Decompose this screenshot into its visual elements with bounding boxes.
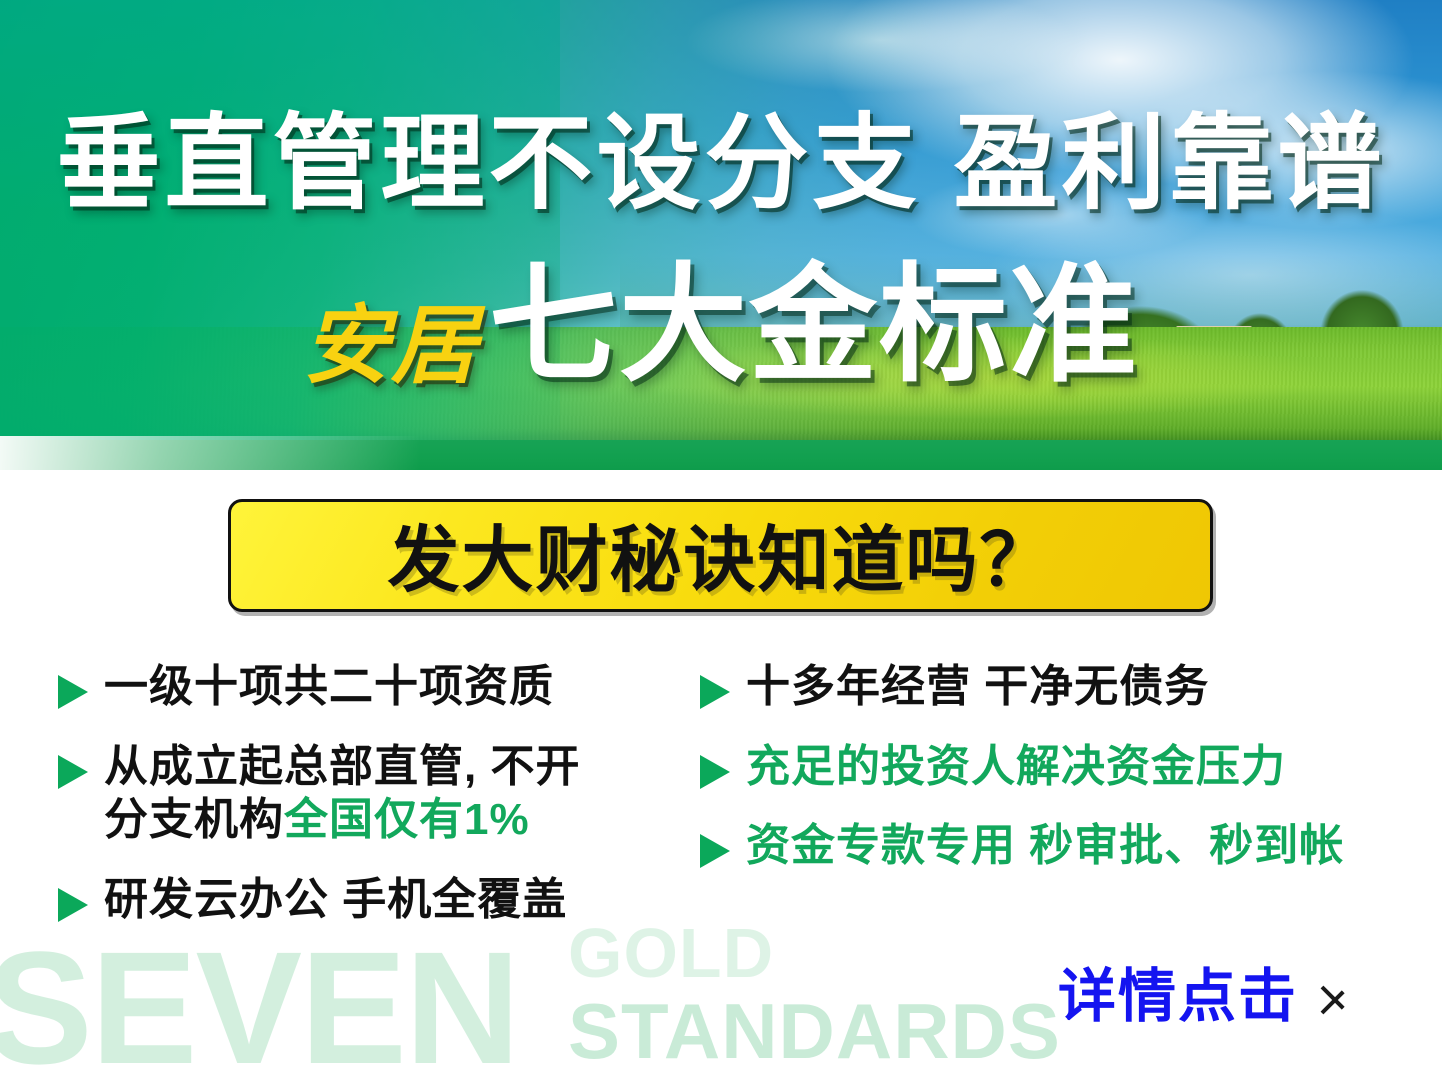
feature-text: 十多年经营 干净无债务 xyxy=(746,660,1209,714)
feature-line: 充足的投资人解决资金压力 xyxy=(746,742,1286,791)
feature-item: 充足的投资人解决资金压力 xyxy=(700,740,1400,794)
feature-line: 十多年经营 干净无债务 xyxy=(746,662,1209,711)
triangle-bullet-icon xyxy=(700,755,730,789)
feature-line: 资金专款专用 秒审批、秒到帐 xyxy=(746,821,1344,870)
feature-text: 资金专款专用 秒审批、秒到帐 xyxy=(746,819,1344,873)
headline-cta-bar[interactable]: 发大财秘诀知道吗？ xyxy=(228,499,1213,612)
detail-link-label: 详情点击 xyxy=(1058,968,1298,1026)
triangle-bullet-icon xyxy=(58,675,88,709)
triangle-bullet-icon xyxy=(700,834,730,868)
feature-text: 研发云办公 手机全覆盖 xyxy=(104,873,567,927)
feature-item: 十多年经营 干净无债务 xyxy=(700,660,1400,714)
hero-headline-secondary: 安居七大金标准 xyxy=(0,262,1442,390)
triangle-bullet-icon xyxy=(58,755,88,789)
feature-text: 一级十项共二十项资质 xyxy=(104,660,554,714)
promo-banner-page: 垂直管理不设分支 盈利靠谱 安居七大金标准 发大财秘诀知道吗？ SEVEN GO… xyxy=(0,0,1442,1066)
feature-line: 一级十项共二十项资质 xyxy=(104,662,554,711)
headline-cta-bar-label: 发大财秘诀知道吗？ xyxy=(387,501,1053,606)
brand-slogan-seven-gold-standards: 七大金标准 xyxy=(489,262,1139,390)
feature-item: 从成立起总部直管, 不开 分支机构全国仅有1% xyxy=(58,740,698,847)
brand-name-anju: 安居 xyxy=(303,303,479,389)
feature-column-left: 一级十项共二十项资质 从成立起总部直管, 不开 分支机构全国仅有1% 研发云办公… xyxy=(58,660,698,953)
hero-banner: 垂直管理不设分支 盈利靠谱 安居七大金标准 xyxy=(0,0,1442,470)
feature-list-section: 一级十项共二十项资质 从成立起总部直管, 不开 分支机构全国仅有1% 研发云办公… xyxy=(0,660,1442,990)
feature-text: 从成立起总部直管, 不开 分支机构全国仅有1% xyxy=(104,740,580,847)
feature-item: 一级十项共二十项资质 xyxy=(58,660,698,714)
feature-line: 分支机构 xyxy=(104,795,284,844)
feature-column-right: 十多年经营 干净无债务 充足的投资人解决资金压力 资金专款专用 秒审批、秒到帐 xyxy=(700,660,1400,899)
headline-cta-bar-wrapper: 发大财秘诀知道吗？ xyxy=(228,499,1213,612)
feature-text: 充足的投资人解决资金压力 xyxy=(746,740,1286,794)
detail-link[interactable]: 详情点击 xyxy=(1058,968,1350,1026)
feature-item: 研发云办公 手机全覆盖 xyxy=(58,873,698,927)
watermark-standards: STANDARDS xyxy=(568,992,1061,1066)
feature-item: 资金专款专用 秒审批、秒到帐 xyxy=(700,819,1400,873)
feature-line: 研发云办公 手机全覆盖 xyxy=(104,875,567,924)
hero-headline-primary: 垂直管理不设分支 盈利靠谱 xyxy=(0,112,1442,216)
chevron-right-icon xyxy=(1320,971,1350,1023)
feature-line-highlight: 全国仅有1% xyxy=(284,795,530,844)
hero-text-group: 垂直管理不设分支 盈利靠谱 安居七大金标准 xyxy=(0,0,1442,470)
feature-line: 从成立起总部直管, 不开 xyxy=(104,742,580,791)
triangle-bullet-icon xyxy=(700,675,730,709)
triangle-bullet-icon xyxy=(58,888,88,922)
